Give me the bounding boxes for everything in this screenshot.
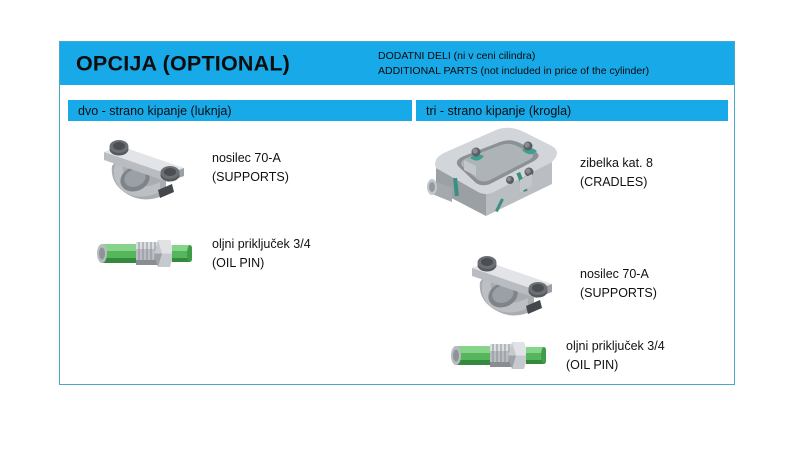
item-name-sl: oljni priključek 3/4 [566, 337, 665, 356]
note-slovene: DODATNI DELI (ni v ceni cilindra) [378, 49, 649, 64]
panel-title: OPCIJA (OPTIONAL) [76, 51, 290, 76]
list-item: oljni priključek 3/4 (OIL PIN) [442, 332, 665, 380]
bracket-support-svg [456, 248, 562, 320]
item-name-sl: nosilec 70-A [580, 265, 657, 284]
item-name-en: (SUPPORTS) [212, 168, 289, 187]
column-heading-left-label: dvo - strano kipanje (luknja) [68, 104, 232, 118]
note-english: ADDITIONAL PARTS (not included in price … [378, 64, 649, 79]
list-item: nosilec 70-A (SUPPORTS) [456, 248, 657, 320]
column-heading-right: tri - strano kipanje (krogla) [416, 100, 728, 121]
column-heading-left: dvo - strano kipanje (luknja) [68, 100, 412, 121]
panel-header-band: OPCIJA (OPTIONAL) DODATNI DELI (ni v cen… [60, 42, 734, 85]
list-item-label: nosilec 70-A (SUPPORTS) [580, 265, 657, 303]
oil-pin-icon [442, 332, 546, 380]
item-name-sl: zibelka kat. 8 [580, 154, 653, 173]
list-item: oljni priključek 3/4 (OIL PIN) [88, 230, 311, 278]
bracket-support-icon [88, 132, 194, 204]
list-item-label: zibelka kat. 8 (CRADLES) [580, 154, 653, 192]
cradle-ring-svg [424, 124, 564, 222]
list-item-label: nosilec 70-A (SUPPORTS) [212, 149, 289, 187]
oil-pin-icon [88, 230, 192, 278]
oil-pin-svg [442, 332, 546, 380]
list-item-label: oljni priključek 3/4 (OIL PIN) [566, 337, 665, 375]
item-name-sl: oljni priključek 3/4 [212, 235, 311, 254]
list-item-label: oljni priključek 3/4 (OIL PIN) [212, 235, 311, 273]
oil-pin-svg [88, 230, 192, 278]
panel-header-notes: DODATNI DELI (ni v ceni cilindra) ADDITI… [378, 49, 649, 79]
list-item: nosilec 70-A (SUPPORTS) [88, 132, 289, 204]
item-name-en: (CRADLES) [580, 173, 653, 192]
list-item: zibelka kat. 8 (CRADLES) [424, 124, 653, 222]
cradle-ring-icon [424, 124, 564, 222]
optional-parts-panel: OPCIJA (OPTIONAL) DODATNI DELI (ni v cen… [59, 41, 735, 385]
item-name-en: (OIL PIN) [566, 356, 665, 375]
item-name-en: (OIL PIN) [212, 254, 311, 273]
bracket-support-icon [456, 248, 562, 320]
column-heading-right-label: tri - strano kipanje (krogla) [416, 104, 571, 118]
item-name-sl: nosilec 70-A [212, 149, 289, 168]
item-name-en: (SUPPORTS) [580, 284, 657, 303]
bracket-support-svg [88, 132, 194, 204]
